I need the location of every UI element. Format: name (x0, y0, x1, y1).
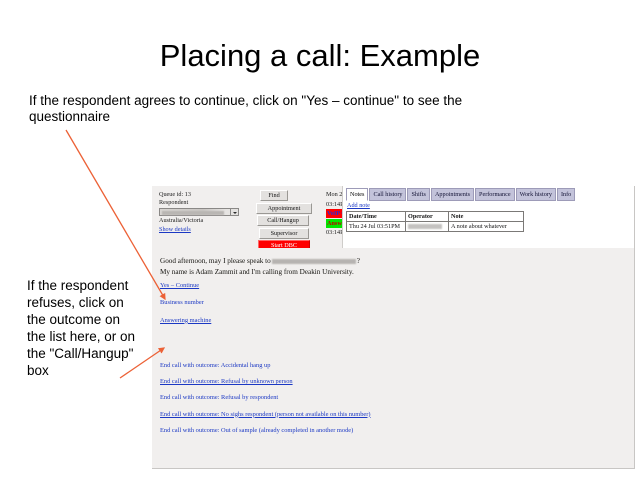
script-line1-after: ? (357, 257, 360, 265)
embedded-app-screenshot: Queue id: 13 Respondent Australia/Victor… (152, 186, 635, 469)
add-note-link[interactable]: Add note (347, 202, 370, 210)
arrow-top-to-yes-continue (66, 130, 165, 299)
tab-panel: Notes Call history Shifts Appointments P… (342, 186, 635, 248)
tab-shifts[interactable]: Shifts (407, 188, 429, 201)
find-button[interactable]: Find (260, 190, 288, 201)
redacted-respondent-value (162, 211, 224, 215)
link-end-accidental-hangup[interactable]: End call with outcome: Accidental hang u… (160, 362, 590, 370)
call-script-text: Good afternoon, may I please speak to? M… (160, 256, 500, 277)
annotation-top-text: If the respondent agrees to continue, cl… (29, 93, 469, 125)
table-row: Thu 24 Jul 03:51PM A note about whatever (347, 222, 524, 232)
link-end-refusal-unknown[interactable]: End call with outcome: Refusal by unknow… (160, 378, 590, 386)
respondent-select[interactable] (159, 208, 239, 216)
end-call-link-list: End call with outcome: Accidental hang u… (160, 362, 590, 443)
column-header-operator: Operator (406, 212, 449, 222)
link-end-no-such-respondent[interactable]: End call with outcome: No sighs responde… (160, 411, 590, 419)
redaction-bar (408, 224, 442, 229)
page-title: Placing a call: Example (0, 38, 640, 74)
tab-work-history[interactable]: Work history (516, 188, 556, 201)
appointment-button[interactable]: Appointment (256, 203, 312, 214)
slide-canvas: Placing a call: Example If the responden… (0, 0, 640, 480)
action-button-group: Find Appointment Call/Hangup Supervisor … (256, 190, 322, 253)
column-header-note: Note (449, 212, 524, 222)
link-business-number[interactable]: Business number (160, 299, 580, 307)
tab-performance[interactable]: Performance (475, 188, 515, 201)
link-end-refusal-respondent[interactable]: End call with outcome: Refusal by respon… (160, 394, 590, 402)
cell-datetime: Thu 24 Jul 03:51PM (347, 222, 406, 232)
call-info-block: Queue id: 13 Respondent Australia/Victor… (159, 191, 249, 234)
supervisor-button[interactable]: Supervisor (259, 228, 309, 239)
tab-call-history[interactable]: Call history (369, 188, 406, 201)
outcome-link-list: Yes – Continue Business number Answering… (160, 282, 580, 334)
tab-appointments[interactable]: Appointments (431, 188, 474, 201)
respondent-label: Respondent (159, 199, 249, 207)
queue-id-label: Queue id: 13 (159, 191, 249, 199)
table-header-row: Date/Time Operator Note (347, 212, 524, 222)
notes-table: Date/Time Operator Note Thu 24 Jul 03:51… (346, 211, 524, 232)
cell-note: A note about whatever (449, 222, 524, 232)
app-toolbar: Queue id: 13 Respondent Australia/Victor… (152, 186, 634, 248)
cell-operator-redacted (406, 222, 449, 232)
tab-info[interactable]: Info (557, 188, 575, 201)
chevron-down-icon[interactable] (230, 209, 238, 215)
tab-strip: Notes Call history Shifts Appointments P… (346, 188, 575, 201)
app-body: Good afternoon, may I please speak to? M… (152, 248, 634, 468)
call-hangup-button[interactable]: Call/Hangup (257, 215, 309, 226)
tab-notes[interactable]: Notes (346, 188, 368, 201)
script-line2: My name is Adam Zammit and I'm calling f… (160, 268, 354, 276)
column-header-datetime: Date/Time (347, 212, 406, 222)
annotation-left-text: If the respondent refuses, click on the … (27, 277, 137, 379)
script-line1-before: Good afternoon, may I please speak to (160, 257, 271, 265)
redacted-respondent-name (272, 259, 356, 264)
show-details-link[interactable]: Show details (159, 226, 249, 234)
link-end-out-of-sample[interactable]: End call with outcome: Out of sample (al… (160, 427, 590, 435)
timezone-label: Australia/Victoria (159, 217, 249, 225)
link-answering-machine[interactable]: Answering machine (160, 317, 580, 325)
link-yes-continue[interactable]: Yes – Continue (160, 282, 580, 290)
